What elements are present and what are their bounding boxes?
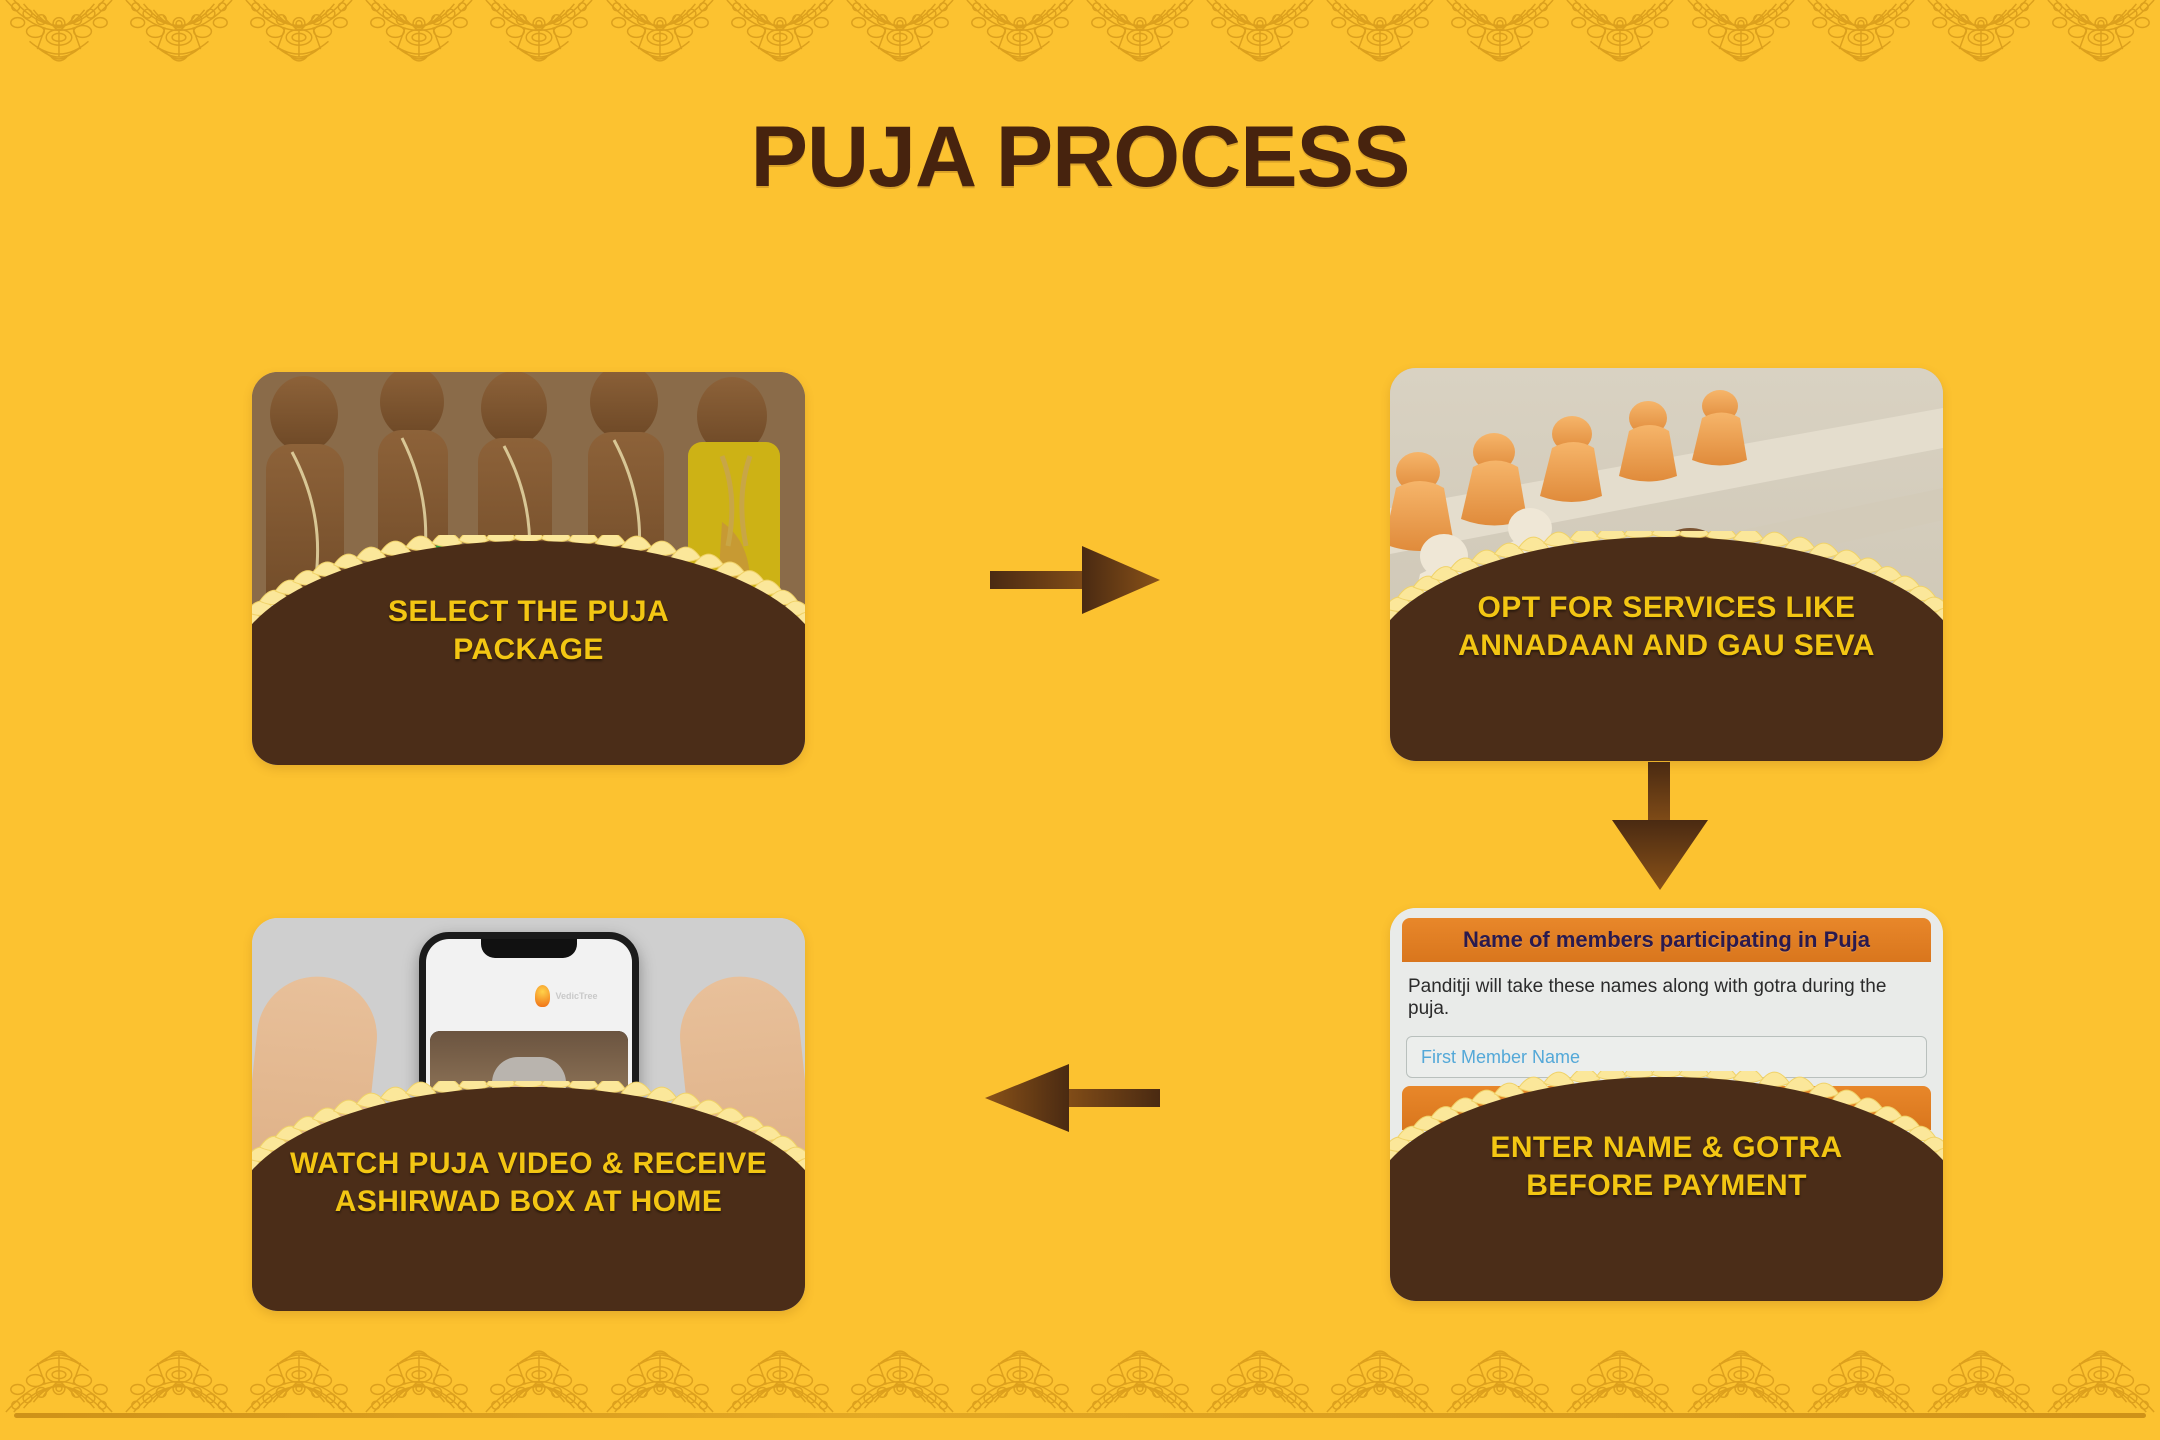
page-title: PUJA PROCESS <box>0 108 2160 207</box>
mandala-motif-icon <box>1802 1348 1920 1414</box>
app-logo: VedicTree <box>535 985 597 1007</box>
arrow-left-icon <box>985 1058 1160 1143</box>
mandala-motif-icon <box>1321 1348 1439 1414</box>
step-1-caption-line-2: PACKAGE <box>453 631 604 669</box>
mandala-motif-icon <box>480 1348 598 1414</box>
step-2-caption-line-2: ANNADAAN AND GAU SEVA <box>1458 627 1875 665</box>
form-help-members: Panditji will take these names along wit… <box>1408 976 1927 1020</box>
mandala-motif-icon <box>120 1348 238 1414</box>
step-3-caption: ENTER NAME & GOTRA BEFORE PAYMENT <box>1390 1077 1943 1301</box>
arrow-right-icon <box>990 540 1160 625</box>
app-name-label: VedicTree <box>555 991 597 1001</box>
step-1-caption: SELECT THE PUJA PACKAGE <box>252 541 805 765</box>
mandala-motif-icon <box>841 0 959 64</box>
mandala-motif-icon <box>1922 0 2040 64</box>
mandala-motif-icon <box>0 1348 118 1414</box>
step-card-enter-name-gotra[interactable]: Name of members participating in Puja Pa… <box>1390 908 1943 1301</box>
mandala-motif-icon <box>2042 1348 2160 1414</box>
step-1-caption-line-1: SELECT THE PUJA <box>388 593 669 631</box>
mandala-motif-icon <box>1682 1348 1800 1414</box>
mandala-motif-icon <box>360 0 478 64</box>
top-decorative-border <box>0 0 2160 68</box>
mandala-motif-icon <box>240 0 358 64</box>
mandala-motif-icon <box>721 1348 839 1414</box>
mandala-motif-icon <box>1682 0 1800 64</box>
mandala-motif-icon <box>1561 1348 1679 1414</box>
mandala-motif-icon <box>1201 0 1319 64</box>
mandala-motif-icon <box>1802 0 1920 64</box>
mandala-motif-icon <box>961 0 1079 64</box>
mandala-motif-icon <box>480 0 598 64</box>
mandala-motif-icon <box>0 0 118 64</box>
mandala-motif-icon <box>1081 0 1199 64</box>
phone-notch <box>481 939 577 958</box>
mandala-motif-icon <box>961 1348 1079 1414</box>
mandala-motif-icon <box>2042 0 2160 64</box>
mandala-motif-icon <box>360 1348 478 1414</box>
bottom-rule <box>14 1413 2146 1418</box>
step-3-caption-line-1: ENTER NAME & GOTRA <box>1490 1129 1842 1167</box>
mandala-motif-icon <box>1321 0 1439 64</box>
diya-icon <box>535 985 550 1007</box>
step-4-caption: WATCH PUJA VIDEO & RECEIVE ASHIRWAD BOX … <box>252 1087 805 1311</box>
form-section-header-members: Name of members participating in Puja <box>1402 918 1931 962</box>
first-member-name-placeholder: First Member Name <box>1421 1047 1580 1068</box>
mandala-motif-icon <box>1922 1348 2040 1414</box>
mandala-motif-icon <box>1201 1348 1319 1414</box>
step-card-opt-services[interactable]: OPT FOR SERVICES LIKE ANNADAAN AND GAU S… <box>1390 368 1943 761</box>
mandala-motif-icon <box>721 0 839 64</box>
first-member-name-input[interactable]: First Member Name <box>1406 1036 1927 1078</box>
mandala-motif-icon <box>120 0 238 64</box>
step-2-caption-line-1: OPT FOR SERVICES LIKE <box>1478 589 1856 627</box>
mandala-motif-icon <box>601 1348 719 1414</box>
mandala-motif-icon <box>841 1348 959 1414</box>
bottom-decorative-border <box>0 1344 2160 1414</box>
mandala-motif-icon <box>240 1348 358 1414</box>
mandala-motif-icon <box>1081 1348 1199 1414</box>
mandala-motif-icon <box>1441 0 1559 64</box>
arrow-down-icon <box>1600 762 1720 897</box>
step-4-caption-line-2: ASHIRWAD BOX AT HOME <box>335 1183 722 1221</box>
step-3-caption-line-2: BEFORE PAYMENT <box>1526 1167 1807 1205</box>
mandala-motif-icon <box>601 0 719 64</box>
step-card-select-package[interactable]: SELECT THE PUJA PACKAGE <box>252 372 805 765</box>
video-subject-hair <box>492 1057 566 1083</box>
mandala-motif-icon <box>1441 1348 1559 1414</box>
step-2-caption: OPT FOR SERVICES LIKE ANNADAAN AND GAU S… <box>1390 537 1943 761</box>
step-4-caption-line-1: WATCH PUJA VIDEO & RECEIVE <box>290 1145 767 1183</box>
mandala-motif-icon <box>1561 0 1679 64</box>
step-card-watch-video[interactable]: VedicTree 0:22 / 1:00 <box>252 918 805 1311</box>
form-section-body-members: Panditji will take these names along wit… <box>1402 962 1931 1086</box>
